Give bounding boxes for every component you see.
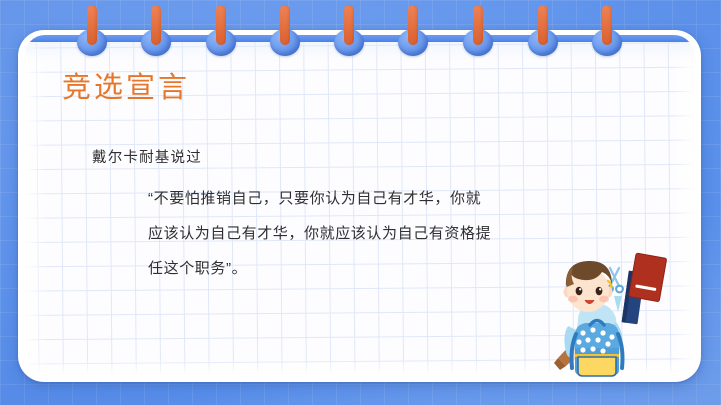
quote-line-1: “不要怕推销自己，只要你认为自己有才华，你就 bbox=[148, 181, 568, 216]
notepad-top-band bbox=[25, 35, 694, 42]
quote-line-2: 应该认为自己有才华，你就应该认为自己有资格提 bbox=[148, 216, 568, 251]
quote-line-3: 任这个职务”。 bbox=[148, 251, 568, 286]
backpack-icon bbox=[572, 321, 623, 377]
boy-with-backpack-illustration bbox=[540, 230, 700, 380]
quote-body: “不要怕推销自己，只要你认为自己有才华，你就 应该认为自己有才华，你就应该认为自… bbox=[148, 181, 568, 286]
page-title: 竞选宣言 bbox=[62, 72, 190, 104]
slide-canvas: 竞选宣言 戴尔卡耐基说过 “不要怕推销自己，只要你认为自己有才华，你就 应该认为… bbox=[0, 0, 721, 405]
quote-attribution: 戴尔卡耐基说过 bbox=[92, 146, 202, 167]
red-book-icon bbox=[629, 253, 667, 302]
blue-pennant-icon bbox=[614, 296, 622, 312]
